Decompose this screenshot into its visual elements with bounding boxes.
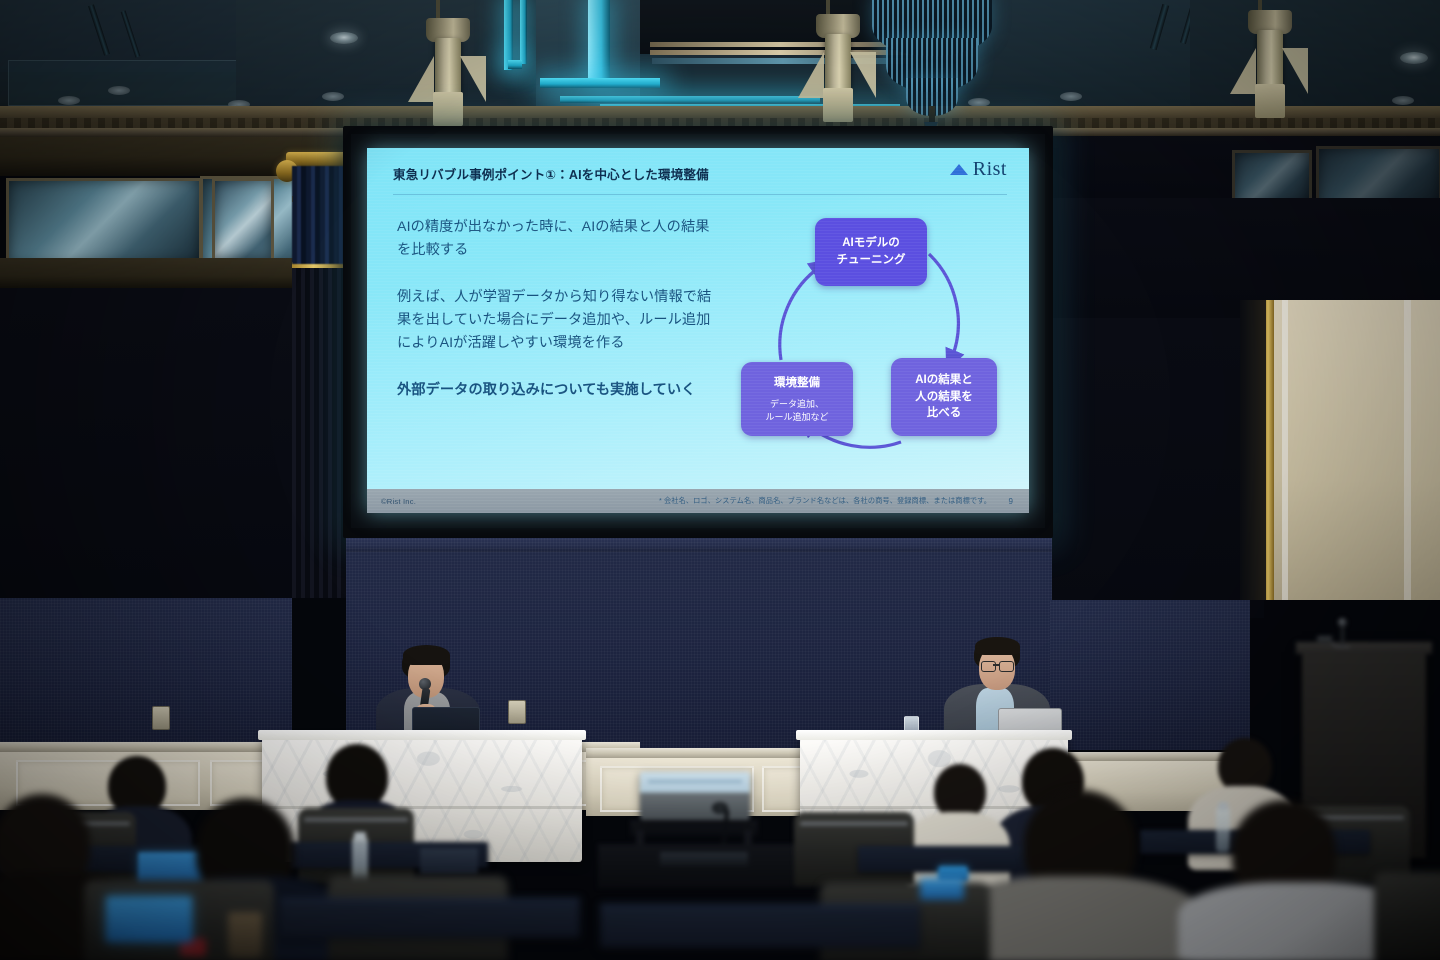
stage-back-wall-upper [346, 538, 1052, 552]
conference-room-photo: 東急リバブル事例ポイント①：AIを中心とした環境整備 Rist AIの精度が出な… [0, 0, 1440, 960]
audience-tablet [920, 878, 964, 900]
slide-footer: ©Rist Inc. * 会社名、ロゴ、システム名、商品名、ブランド名などは、各… [367, 489, 1029, 513]
diagram-box-tuning-label: AIモデルの チューニング [837, 235, 906, 268]
ceiling [0, 0, 1440, 128]
audience-laptop [420, 848, 478, 874]
rist-wordmark: Rist [973, 158, 1007, 181]
diagram-box-environment-label: 環境整備 [774, 375, 820, 392]
header-divider [393, 194, 1007, 195]
slide-body-text: AIの精度が出なかった時に、AIの結果と人の結果を比較する 例えば、人が学習デー… [397, 216, 717, 426]
diagram-box-compare-label: AIの結果と 人の結果を 比べる [915, 372, 973, 422]
fluted-pilaster [292, 268, 346, 598]
eyeglasses-icon [999, 661, 1014, 672]
presentation-slide: 東急リバブル事例ポイント①：AIを中心とした環境整備 Rist AIの精度が出な… [367, 148, 1029, 513]
cycle-diagram: AIモデルの チューニング AIの結果と 人の結果を 比べる 環境整備 データ追… [729, 210, 1019, 490]
slide-paragraph-3: 外部データの取り込みについても実施していく [397, 379, 717, 402]
slide-paragraph-2: 例えば、人が学習データから知り得ない情報で結果を出していた場合にデータ追加や、ル… [397, 286, 717, 355]
right-wall-panel [1264, 300, 1440, 600]
diagram-box-tuning: AIモデルの チューニング [815, 218, 927, 286]
water-bottle [1216, 808, 1230, 852]
slide-disclaimer: * 会社名、ロゴ、システム名、商品名、ブランド名などは、各社の商号、登録商標、ま… [659, 496, 991, 506]
diagram-box-compare: AIの結果と 人の結果を 比べる [891, 358, 997, 436]
rist-logo: Rist [950, 158, 1007, 181]
slide-page-number: 9 [1009, 497, 1013, 506]
diagram-box-environment: 環境整備 データ追加、 ルール追加など [741, 362, 853, 436]
audience-desk-foreground [280, 898, 580, 938]
wall-outlet [508, 700, 526, 724]
triangle-logo-icon [950, 164, 968, 175]
slide-copyright: ©Rist Inc. [381, 497, 416, 506]
audience-chair-foreground [1374, 872, 1440, 960]
projection-screen: 東急リバブル事例ポイント①：AIを中心とした環境整備 Rist AIの精度が出な… [343, 126, 1053, 538]
wall-mirror-panel [212, 178, 274, 262]
coffee-cup [228, 912, 262, 958]
slide-header: 東急リバブル事例ポイント①：AIを中心とした環境整備 Rist [367, 148, 1029, 196]
stage-drapery [292, 166, 346, 264]
eyeglasses-icon [981, 661, 996, 672]
wall-outlet [152, 706, 170, 730]
slide-title: 東急リバブル事例ポイント①：AIを中心とした環境整備 [393, 164, 709, 183]
diagram-box-environment-sublabel: データ追加、 ルール追加など [765, 398, 828, 423]
audience-desk-foreground [600, 904, 920, 948]
audience-laptop-screen-foreground [106, 896, 192, 942]
slide-paragraph-1: AIの精度が出なかった時に、AIの結果と人の結果を比較する [397, 216, 717, 262]
wall-mirror-panel [6, 178, 202, 266]
projector-cart [630, 820, 758, 836]
